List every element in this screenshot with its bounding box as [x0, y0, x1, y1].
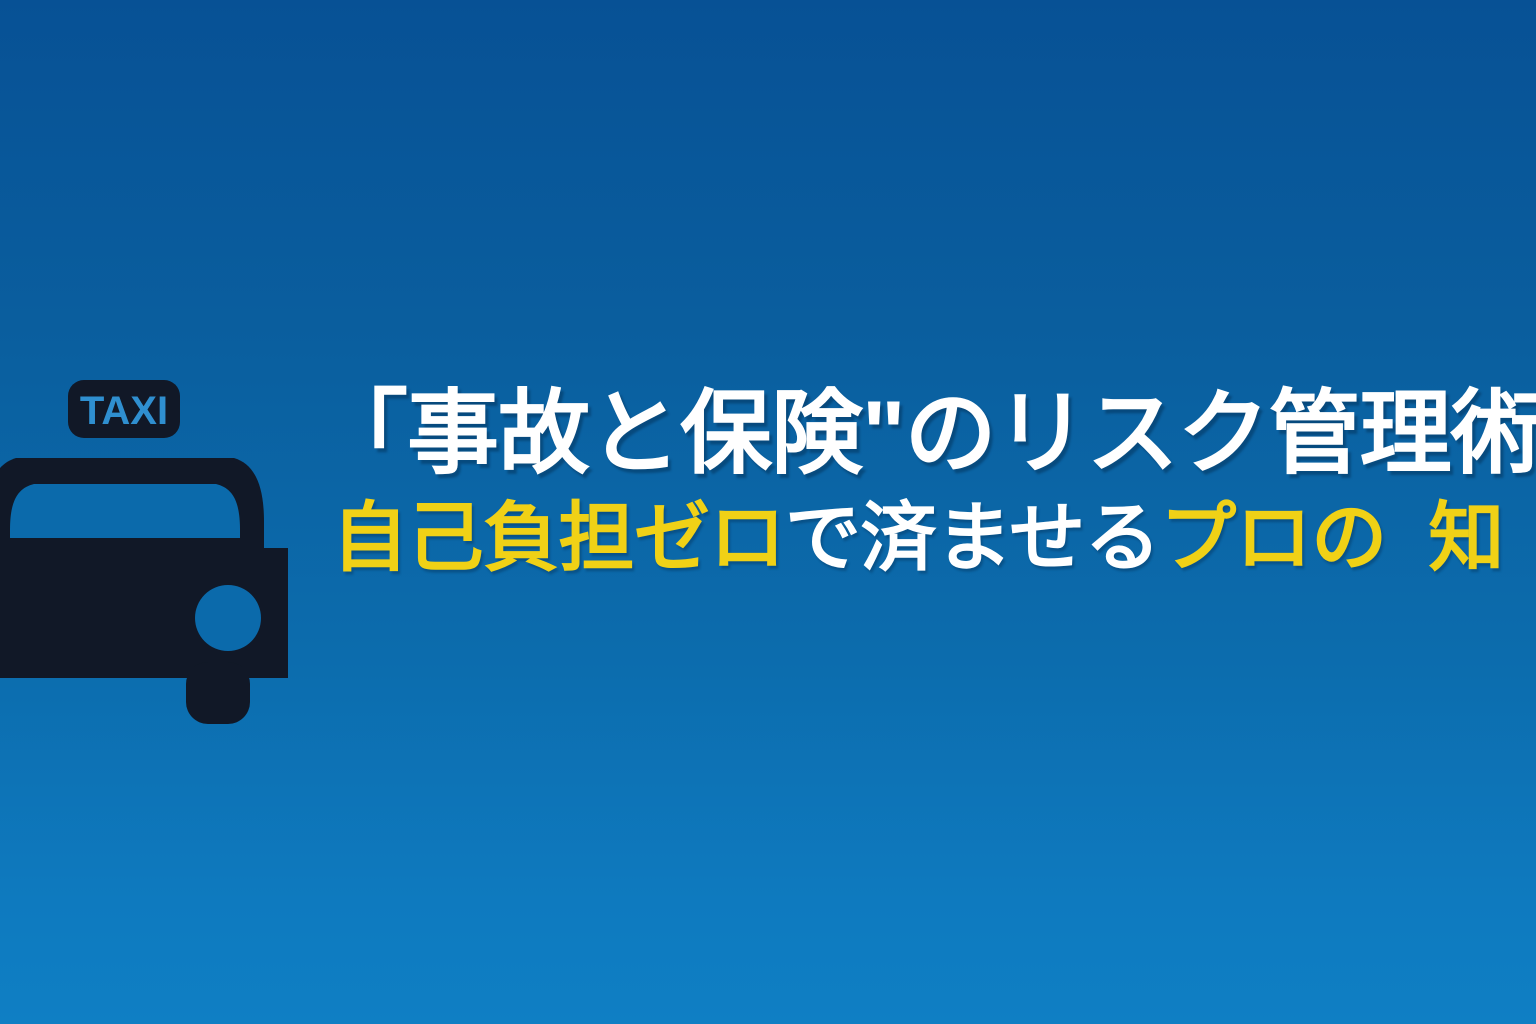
taxi-illustration: TAXI [0, 372, 288, 724]
taxi-headlight-right [195, 585, 261, 651]
subheadline-segment-accent-1: 自己負担ゼロ [332, 496, 785, 581]
headline: 「事故と保険"のリスク管理術 [316, 385, 1516, 484]
subheadline: 自己負担ゼロで済ませるプロの 知 識 [332, 496, 1516, 581]
subheadline-segment-accent-3: の 知 識 [1311, 496, 1536, 581]
taxi-roof-sign-label: TAXI [80, 389, 168, 433]
text-block: 「事故と保険"のリスク管理術 自己負担ゼロで済ませるプロの 知 識 [316, 385, 1516, 581]
taxi-wheel-right [186, 662, 250, 724]
banner-root: TAXI 「事故と保険"のリスク管理術 自己負担ゼロで済ませるプロの 知 識 [0, 0, 1536, 1024]
taxi-windshield [10, 484, 240, 538]
subheadline-segment-plain: で済ませる [785, 496, 1160, 581]
subheadline-segment-accent-2: プロ [1160, 496, 1311, 581]
